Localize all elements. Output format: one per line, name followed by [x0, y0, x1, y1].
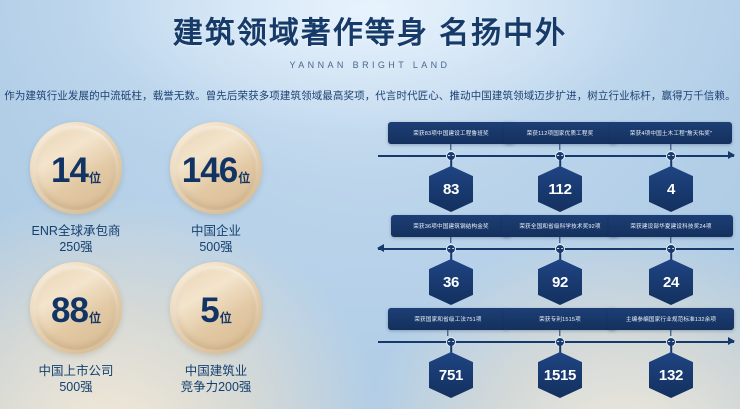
- award-count-value: 24: [663, 274, 679, 291]
- badge-unit: 位: [89, 169, 101, 186]
- awards-timeline: 荣获83项中国建设工程鲁班奖 荣获112项国家优质工程奖 荣获4项中国土木工程"…: [378, 122, 734, 401]
- timeline-row: 荣获国家和省级工法751项 荣获专利1515项 主编参编国家行业规范标准132余…: [378, 308, 734, 401]
- award-card[interactable]: 荣获全国和省级科学技术奖92项: [502, 215, 618, 237]
- award-card-label: 荣获4项中国土木工程"詹天佑奖": [630, 129, 712, 137]
- timeline-axis: [378, 247, 734, 250]
- award-count-hex: 132: [649, 352, 693, 398]
- badge-label-line1: ENR全球承包商: [6, 223, 146, 239]
- coin-medal-icon: 88 位: [30, 262, 122, 354]
- badge-label-line1: 中国上市公司: [6, 363, 146, 379]
- award-count-value: 36: [443, 274, 459, 291]
- timeline-axis: [378, 340, 734, 343]
- award-count-hex: 92: [538, 259, 582, 305]
- award-count-hex: 83: [429, 166, 473, 212]
- award-count-value: 112: [548, 181, 571, 198]
- badge-label: 中国企业 500强: [146, 223, 286, 255]
- award-card[interactable]: 荣获83项中国建设工程鲁班奖: [388, 122, 514, 144]
- award-card-label: 荣获建设部华夏建设科技奖24项: [630, 222, 711, 230]
- badge-label-line1: 中国企业: [146, 223, 286, 239]
- ranking-badge: 5 位 中国建筑业 竞争力200强: [146, 262, 286, 402]
- badge-label-line2: 250强: [6, 239, 146, 255]
- award-card-label: 荣获112项国家优质工程奖: [527, 129, 594, 137]
- award-count-value: 1515: [544, 367, 576, 384]
- badge-unit: 位: [238, 169, 250, 186]
- arrow-right-icon: [728, 151, 735, 159]
- page-title: 建筑领域著作等身 名扬中外: [0, 14, 740, 54]
- award-card[interactable]: 荣获国家和省级工法751项: [388, 308, 508, 330]
- award-card[interactable]: 荣获建设部华夏建设科技奖24项: [609, 215, 733, 237]
- award-count-hex: 36: [429, 259, 473, 305]
- award-count-hex: 112: [538, 166, 582, 212]
- award-card-label: 荣获36项中国建筑钢结构金奖: [413, 222, 488, 230]
- badge-number: 14: [51, 153, 88, 188]
- ranking-badges: 14 位 ENR全球承包商 250强 146 位: [6, 122, 286, 402]
- coin-medal-icon: 146 位: [170, 122, 262, 214]
- award-card[interactable]: 荣获专利1515项: [504, 308, 616, 330]
- badge-label: 中国建筑业 竞争力200强: [146, 363, 286, 395]
- ranking-badge: 88 位 中国上市公司 500强: [6, 262, 146, 402]
- award-count-hex: 1515: [538, 352, 582, 398]
- badge-label-line2: 竞争力200强: [146, 379, 286, 395]
- ranking-badge: 146 位 中国企业 500强: [146, 122, 286, 262]
- ranking-badge: 14 位 ENR全球承包商 250强: [6, 122, 146, 262]
- badge-number: 5: [200, 293, 218, 328]
- badge-unit: 位: [220, 309, 232, 326]
- award-card[interactable]: 主编参编国家行业规范标准132余项: [608, 308, 734, 330]
- award-count-value: 132: [659, 367, 683, 384]
- award-count-hex: 4: [649, 166, 693, 212]
- award-card[interactable]: 荣获36项中国建筑钢结构金奖: [391, 215, 511, 237]
- award-count-value: 92: [552, 274, 568, 291]
- badge-number: 88: [51, 293, 88, 328]
- award-count-value: 83: [443, 181, 459, 198]
- award-card-label: 荣获83项中国建设工程鲁班奖: [413, 129, 488, 137]
- coin-medal-icon: 14 位: [30, 122, 122, 214]
- badge-number: 146: [182, 153, 237, 188]
- header: 建筑领域著作等身 名扬中外 YANNAN BRIGHT LAND: [0, 14, 740, 70]
- arrow-left-icon: [377, 244, 384, 252]
- award-count-value: 4: [667, 181, 675, 198]
- badge-label: 中国上市公司 500强: [6, 363, 146, 395]
- award-card-label: 荣获专利1515项: [539, 315, 581, 323]
- badge-label: ENR全球承包商 250强: [6, 223, 146, 255]
- badge-label-line2: 500强: [146, 239, 286, 255]
- award-count-value: 751: [439, 367, 463, 384]
- award-card-label: 荣获国家和省级工法751项: [414, 315, 481, 323]
- arrow-right-icon: [728, 337, 735, 345]
- award-card[interactable]: 荣获4项中国土木工程"詹天佑奖": [610, 122, 732, 144]
- badge-label-line1: 中国建筑业: [146, 363, 286, 379]
- timeline-row: 荣获83项中国建设工程鲁班奖 荣获112项国家优质工程奖 荣获4项中国土木工程"…: [378, 122, 734, 215]
- badge-unit: 位: [89, 309, 101, 326]
- promo-banner: 建筑领域著作等身 名扬中外 YANNAN BRIGHT LAND 作为建筑行业发…: [0, 0, 740, 409]
- award-card[interactable]: 荣获112项国家优质工程奖: [504, 122, 616, 144]
- page-subtitle: YANNAN BRIGHT LAND: [0, 60, 740, 70]
- award-card-label: 荣获全国和省级科学技术奖92项: [519, 222, 600, 230]
- badge-label-line2: 500强: [6, 379, 146, 395]
- timeline-axis: [378, 154, 734, 157]
- award-count-hex: 751: [429, 352, 473, 398]
- coin-medal-icon: 5 位: [170, 262, 262, 354]
- timeline-row: 荣获36项中国建筑钢结构金奖 荣获全国和省级科学技术奖92项 荣获建设部华夏建设…: [378, 215, 734, 308]
- award-card-label: 主编参编国家行业规范标准132余项: [626, 315, 716, 323]
- description-text: 作为建筑行业发展的中流砥柱，载誉无数。曾先后荣获多项建筑领域最高奖项，代言时代匠…: [0, 88, 740, 103]
- award-count-hex: 24: [649, 259, 693, 305]
